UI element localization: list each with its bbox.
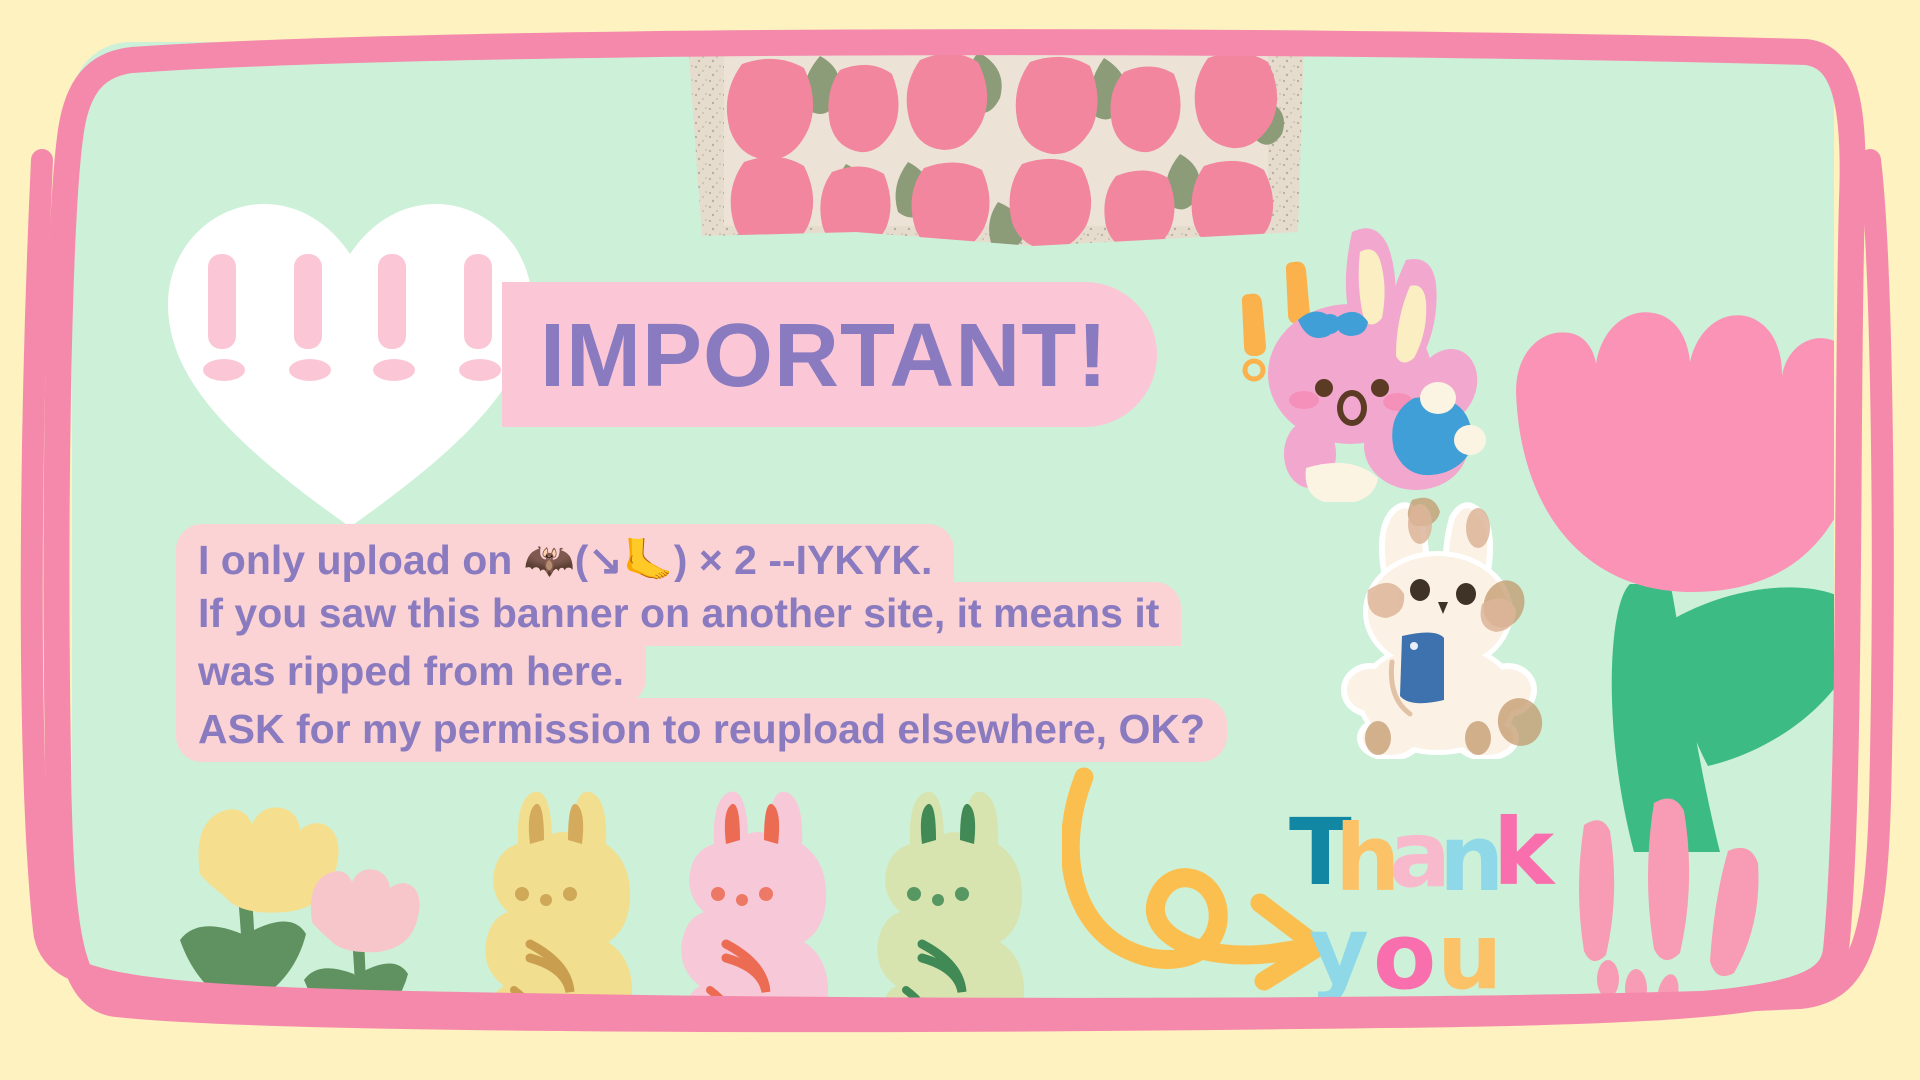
banner-stage: IMPORTANT! I only upload on 🦇(↘🦶) × 2 --…	[0, 0, 1920, 1080]
hand-drawn-frame	[0, 0, 1920, 1080]
